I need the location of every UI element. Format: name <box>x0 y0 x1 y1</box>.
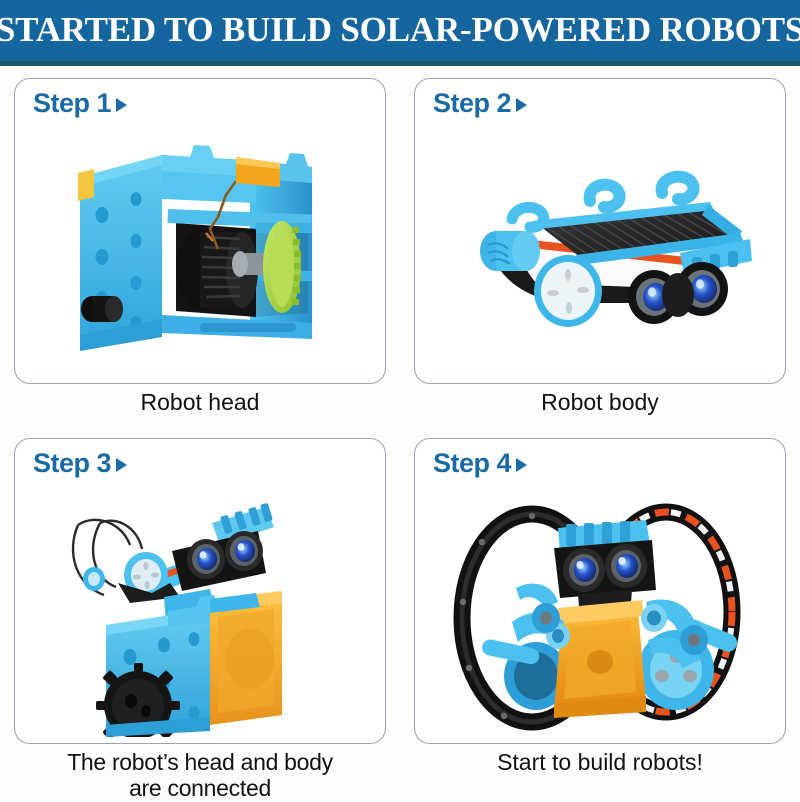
step-2-illustration <box>415 119 785 384</box>
play-triangle-icon <box>116 458 127 472</box>
step-3-caption: The robot’s head and body are connected <box>14 750 386 802</box>
step-1-label-group: Step 1 <box>33 90 127 117</box>
step-1-label: Step 1 <box>33 90 111 117</box>
play-triangle-icon <box>516 458 527 472</box>
step-4-label: Step 4 <box>433 450 511 477</box>
step-2-label-group: Step 2 <box>433 90 527 117</box>
steps-grid: Step 1 <box>0 66 800 800</box>
step-3-cell: Step 3 <box>14 438 386 748</box>
step-4-cell: Step 4 <box>414 438 786 748</box>
step-4-card[interactable]: Step 4 <box>414 438 786 744</box>
step-3-label-group: Step 3 <box>33 450 127 477</box>
header-banner: STARTED TO BUILD SOLAR-POWERED ROBOTS <box>0 0 800 66</box>
step-4-illustration <box>415 479 785 744</box>
step-3-card[interactable]: Step 3 <box>14 438 386 744</box>
step-2-card[interactable]: Step 2 <box>414 78 786 384</box>
step-4-label-group: Step 4 <box>433 450 527 477</box>
step-3-caption-line-2: are connected <box>14 776 386 802</box>
step-1-illustration <box>15 119 385 384</box>
step-2-label: Step 2 <box>433 90 511 117</box>
page-title: STARTED TO BUILD SOLAR-POWERED ROBOTS <box>0 12 800 50</box>
step-4-caption: Start to build robots! <box>414 750 786 776</box>
instruction-sheet: STARTED TO BUILD SOLAR-POWERED ROBOTS St… <box>0 0 800 800</box>
step-1-card[interactable]: Step 1 <box>14 78 386 384</box>
step-1-cell: Step 1 <box>14 78 386 388</box>
step-3-label: Step 3 <box>33 450 111 477</box>
play-triangle-icon <box>516 98 527 112</box>
step-1-caption: Robot head <box>14 390 386 416</box>
step-2-caption: Robot body <box>414 390 786 416</box>
play-triangle-icon <box>116 98 127 112</box>
step-2-cell: Step 2 <box>414 78 786 388</box>
step-3-illustration <box>15 479 385 744</box>
step-3-caption-line-1: The robot’s head and body <box>14 750 386 776</box>
